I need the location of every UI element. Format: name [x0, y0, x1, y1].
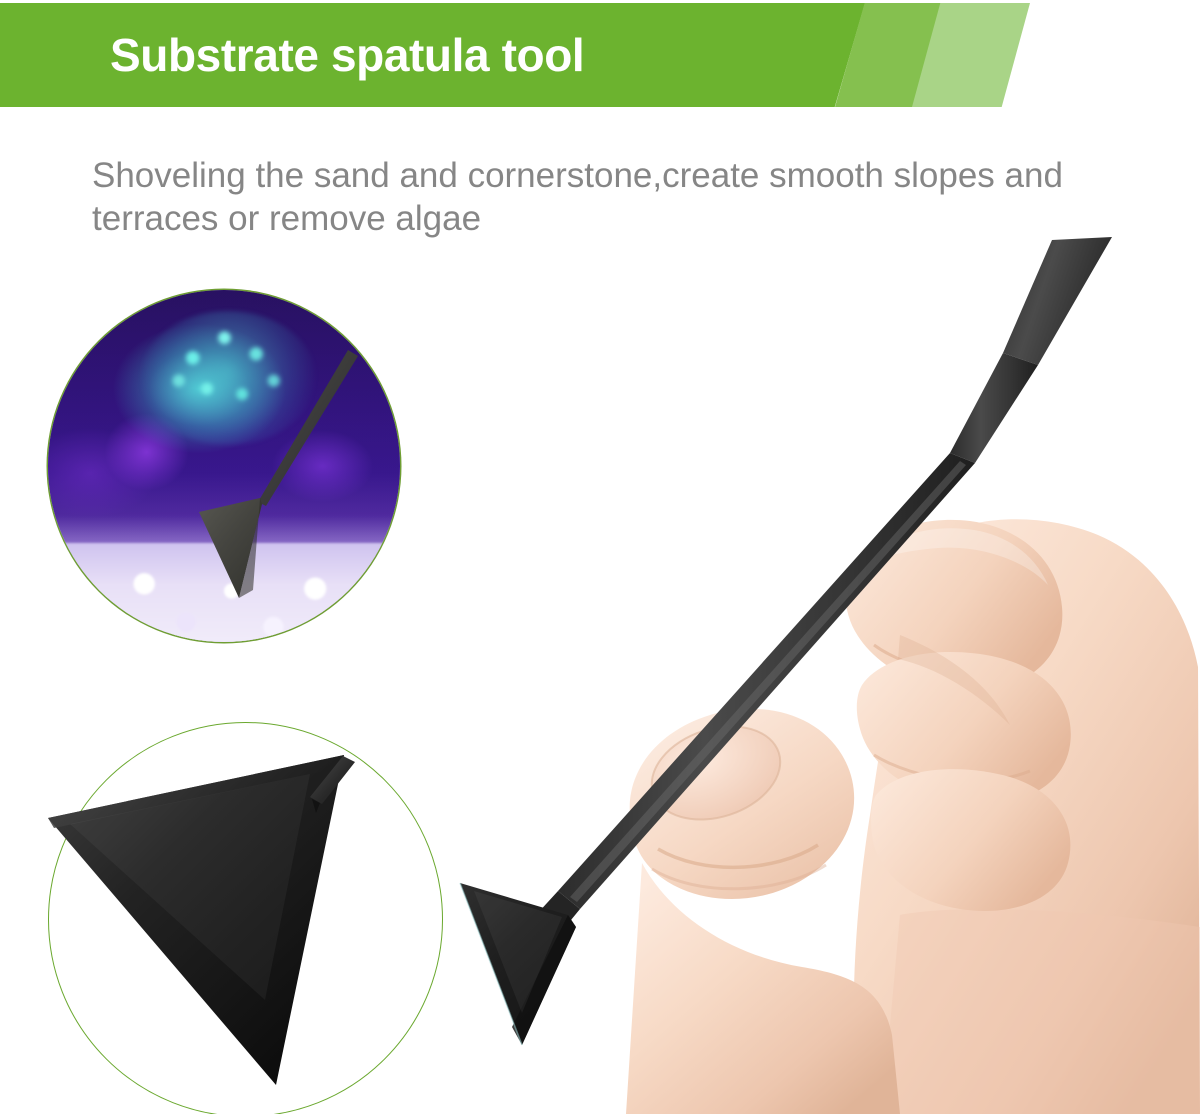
middle-finger	[857, 652, 1071, 804]
header-banner: Substrate spatula tool	[0, 3, 1010, 107]
thumb	[630, 709, 854, 899]
inset-circle-blade-ring	[48, 722, 443, 1114]
product-photo-hand-holding-spatula	[430, 215, 1200, 1114]
spatula-shaft	[558, 453, 975, 909]
spatula-in-tank-icon	[48, 290, 400, 642]
spatula-neck	[536, 891, 580, 931]
inset-circle-aquarium	[48, 290, 400, 642]
spatula-tip	[1003, 237, 1112, 365]
subtitle-text: Shoveling the sand and cornerstone,creat…	[92, 155, 1122, 240]
thumb-base	[626, 863, 900, 1114]
ring-finger	[871, 769, 1070, 911]
index-finger	[845, 520, 1062, 690]
spatula-blade	[460, 883, 576, 1045]
hand-palm	[854, 519, 1200, 1114]
thumbnail	[640, 711, 793, 835]
product-marketing-image: Substrate spatula tool Shoveling the san…	[0, 0, 1200, 1114]
spatula-taper	[950, 353, 1038, 463]
page-title: Substrate spatula tool	[110, 28, 584, 82]
